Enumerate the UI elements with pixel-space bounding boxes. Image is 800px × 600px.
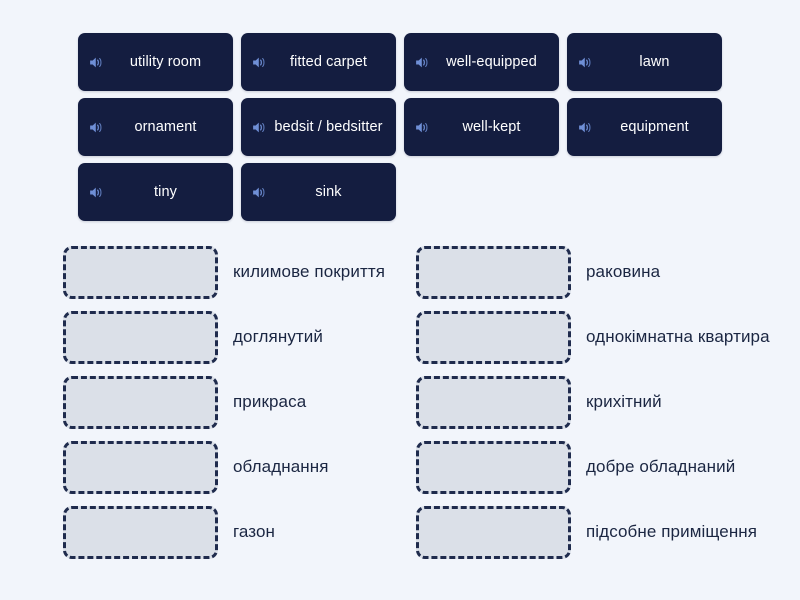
word-card-label: fitted carpet bbox=[271, 54, 388, 70]
answer-column-right: раковинаоднокімнатна квартиракрихітнийдо… bbox=[400, 246, 800, 559]
drop-zone[interactable] bbox=[416, 506, 571, 559]
word-card[interactable]: bedsit / bedsitter bbox=[241, 98, 396, 156]
word-card[interactable]: tiny bbox=[78, 163, 233, 221]
answer-area: килимове покриттядоглянутийприкрасаоблад… bbox=[0, 246, 800, 559]
answer-label: обладнання bbox=[233, 457, 400, 477]
drop-zone[interactable] bbox=[416, 376, 571, 429]
word-card-label: bedsit / bedsitter bbox=[271, 119, 388, 135]
speaker-icon[interactable] bbox=[88, 184, 105, 201]
answer-label: доглянутий bbox=[233, 327, 400, 347]
answer-row: добре обладнаний bbox=[416, 441, 800, 494]
word-card[interactable]: ornament bbox=[78, 98, 233, 156]
word-card[interactable]: lawn bbox=[567, 33, 722, 91]
answer-label: раковина bbox=[586, 262, 800, 282]
word-card[interactable]: well-kept bbox=[404, 98, 559, 156]
answer-label: підсобне приміщення bbox=[586, 522, 800, 542]
answer-row: крихітний bbox=[416, 376, 800, 429]
answer-row: килимове покриття bbox=[63, 246, 400, 299]
word-card[interactable]: fitted carpet bbox=[241, 33, 396, 91]
drop-zone[interactable] bbox=[416, 441, 571, 494]
speaker-icon[interactable] bbox=[414, 119, 431, 136]
answer-row: підсобне приміщення bbox=[416, 506, 800, 559]
speaker-icon[interactable] bbox=[251, 184, 268, 201]
speaker-icon[interactable] bbox=[88, 119, 105, 136]
answer-row: обладнання bbox=[63, 441, 400, 494]
speaker-icon[interactable] bbox=[577, 54, 594, 71]
answer-column-left: килимове покриттядоглянутийприкрасаоблад… bbox=[0, 246, 400, 559]
answer-row: газон bbox=[63, 506, 400, 559]
drop-zone[interactable] bbox=[63, 506, 218, 559]
word-card[interactable]: well-equipped bbox=[404, 33, 559, 91]
drop-zone[interactable] bbox=[416, 311, 571, 364]
speaker-icon[interactable] bbox=[88, 54, 105, 71]
drop-zone[interactable] bbox=[63, 376, 218, 429]
answer-label: килимове покриття bbox=[233, 262, 400, 282]
answer-row: раковина bbox=[416, 246, 800, 299]
drop-zone[interactable] bbox=[63, 441, 218, 494]
speaker-icon[interactable] bbox=[251, 54, 268, 71]
answer-row: прикраса bbox=[63, 376, 400, 429]
word-card-label: well-equipped bbox=[434, 54, 551, 70]
speaker-icon[interactable] bbox=[577, 119, 594, 136]
drop-zone[interactable] bbox=[63, 311, 218, 364]
word-card-area: utility roomfitted carpetwell-equippedla… bbox=[78, 33, 724, 221]
answer-label: газон bbox=[233, 522, 400, 542]
drop-zone[interactable] bbox=[63, 246, 218, 299]
word-card-label: ornament bbox=[108, 119, 225, 135]
word-card-label: utility room bbox=[108, 54, 225, 70]
answer-label: однокімнатна квартира bbox=[586, 327, 800, 347]
word-card-label: sink bbox=[271, 184, 388, 200]
answer-label: крихітний bbox=[586, 392, 800, 412]
word-card-label: well-kept bbox=[434, 119, 551, 135]
speaker-icon[interactable] bbox=[414, 54, 431, 71]
word-card-label: equipment bbox=[597, 119, 714, 135]
answer-label: добре обладнаний bbox=[586, 457, 800, 477]
word-card[interactable]: utility room bbox=[78, 33, 233, 91]
word-card-label: tiny bbox=[108, 184, 225, 200]
word-card[interactable]: equipment bbox=[567, 98, 722, 156]
answer-row: однокімнатна квартира bbox=[416, 311, 800, 364]
answer-row: доглянутий bbox=[63, 311, 400, 364]
speaker-icon[interactable] bbox=[251, 119, 268, 136]
word-card-label: lawn bbox=[597, 54, 714, 70]
answer-label: прикраса bbox=[233, 392, 400, 412]
word-card[interactable]: sink bbox=[241, 163, 396, 221]
drop-zone[interactable] bbox=[416, 246, 571, 299]
